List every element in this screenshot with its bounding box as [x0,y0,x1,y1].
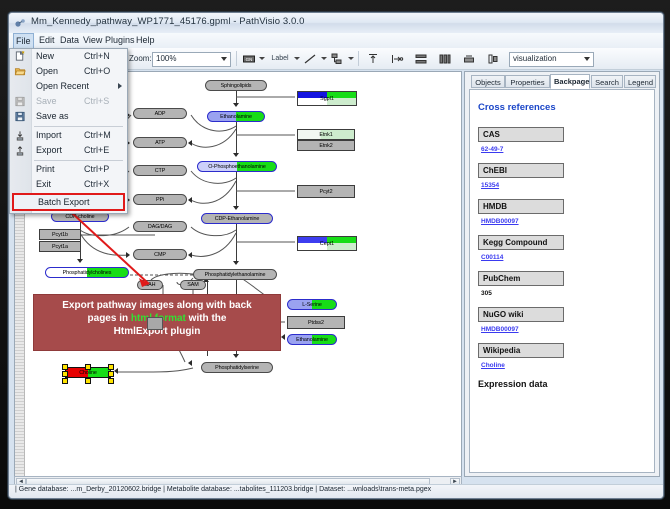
selection-handle[interactable] [108,364,114,370]
node-label: Sphingolipids [221,83,252,89]
xref-value-pubchem: 305 [481,290,650,297]
xref-value-cas[interactable]: 62-49-7 [481,146,650,153]
menu-item-accel: Ctrl+S [84,94,109,109]
node-ctp[interactable]: CTP [133,165,187,176]
gene-etnk1[interactable]: Etnk1 [297,129,355,140]
node-sam[interactable]: SAM [180,280,206,290]
node-label: DAG/DAG [148,224,172,230]
node-label: SAH [145,282,156,288]
menu-item-accel: Ctrl+P [84,162,109,177]
arrowhead-left-ps [188,360,192,366]
gene-pcyt1a[interactable]: Pcyt1a [39,241,81,252]
arrowhead-right-cmp [126,252,130,258]
arrowhead-left-cmp [188,252,192,258]
tab-backpage[interactable]: Backpage [550,74,590,89]
window-title: Mm_Kennedy_pathway_WP1771_45176.gpml - P… [31,16,305,27]
node-cmp[interactable]: CMP [133,249,187,260]
arrowhead-left-atp [188,140,192,146]
menu-item-save: Save Ctrl+S [10,94,127,109]
tab-properties[interactable]: Properties [505,75,550,88]
distribute-columns-icon[interactable] [438,52,452,66]
node-ethanolamine[interactable]: Ethanolamine [207,111,265,122]
xref-value-hmdb[interactable]: HMDB00097 [481,218,650,225]
menu-item-accel: Ctrl+X [84,177,109,192]
node-label: Choline [79,370,97,376]
datanode-dropdown-icon[interactable] [259,57,265,60]
node-phosphatidylserine[interactable]: Phosphatidylserine [201,362,273,373]
file-menu-dropdown[interactable]: New Ctrl+N Open Ctrl+O Open Recent Save … [9,48,128,214]
xref-db-chebi: ChEBI [478,163,564,178]
gene-label: Pcyt1a [52,244,68,250]
save-disk-icon [14,96,26,107]
node-label: SAM [187,282,198,288]
node-label: CDP-choline [65,214,94,220]
gene-label: Etnk2 [319,143,332,149]
node-label: Phosphatidylethanolamine [205,272,266,278]
status-text: | Gene database: ...m_Derby_20120602.bri… [15,486,431,493]
xref-value-nugo[interactable]: HMDB00097 [481,326,650,333]
menu-item-label: Batch Export [38,195,90,209]
toolbar-separator-2 [358,51,359,66]
folder-open-icon [14,66,26,77]
align-left-icon[interactable] [390,52,404,66]
cross-references-title: Cross references [478,102,650,113]
new-document-icon [14,51,26,62]
side-panel: Objects Properties Backpage Search Legen… [464,71,660,477]
visualization-combo[interactable]: visualization [509,52,594,67]
menu-item-open-recent[interactable]: Open Recent [10,79,127,94]
interaction-dropdown-icon[interactable] [348,57,354,60]
gene-label: Sgpl1 [298,96,356,102]
node-atp[interactable]: ATP [133,137,187,148]
xref-db-wikipedia: Wikipedia [478,343,564,358]
node-label: CTP [155,168,165,174]
menu-item-open[interactable]: Open Ctrl+O [10,64,127,79]
menu-item-save-as[interactable]: Save as [10,109,127,124]
backpage-content: Cross references CAS 62-49-7 ChEBI 15354… [469,89,655,473]
menu-file[interactable]: File [13,33,34,49]
menu-edit[interactable]: Edit [36,34,58,47]
node-l-serine[interactable]: L-Serine [287,299,337,310]
zoom-label: Zoom: [129,54,152,63]
menu-item-accel: Ctrl+N [84,49,110,64]
import-icon [14,130,26,141]
xref-db-hmdb: HMDB [478,199,564,214]
node-o-phosphoethanolamine[interactable]: O-Phosphoethanolamine [197,161,277,172]
node-cdp-ethanolamine[interactable]: CDP-Ethanolamine [201,213,273,224]
label-dropdown-icon[interactable] [294,57,300,60]
same-height-icon[interactable] [486,52,500,66]
title-bar: Mm_Kennedy_pathway_WP1771_45176.gpml - P… [9,13,663,34]
gene-cept1[interactable]: Cept1 [297,236,357,251]
submenu-arrow-icon [118,83,122,89]
arrowhead-left-choline-sel [114,368,118,374]
menu-data[interactable]: Data [57,34,82,47]
side-panel-tabs: Objects Properties Backpage Search Legen… [467,74,657,88]
arrowhead-left-etn2 [281,334,285,340]
selection-handle[interactable] [62,364,68,370]
tab-search[interactable]: Search [591,75,623,88]
label-tool-button[interactable]: Label [269,52,291,66]
node-phosphatidylethanolamine[interactable]: Phosphatidylethanolamine [193,269,277,280]
gene-ptdss2[interactable]: Ptdss2 [287,316,345,329]
line-dropdown-icon[interactable] [321,57,327,60]
tab-legend[interactable]: Legend [624,75,656,88]
toolbar-separator [236,51,237,66]
xref-db-cas: CAS [478,127,564,142]
node-label: Phosphatidylcholines [63,270,112,276]
node-label: Ethanolamine [220,114,252,120]
node-ppi[interactable]: PPi [133,194,187,205]
node-label: L-Serine [302,302,322,308]
arrowhead-left-ppi [188,197,192,203]
selection-handle[interactable] [62,378,68,384]
line-tool-button[interactable] [303,52,317,66]
gene-label: Pcyt1b [52,232,68,238]
xref-db-nugo: NuGO wiki [478,307,564,322]
expression-data-title: Expression data [478,379,650,389]
align-top-icon[interactable] [366,52,380,66]
selection-handle[interactable] [85,378,91,384]
application-window: Mm_Kennedy_pathway_WP1771_45176.gpml - P… [8,12,664,499]
chevron-down-icon-2 [584,57,590,61]
gene-label: Ptdss2 [308,320,324,326]
node-label: O-Phosphoethanolamine [208,164,266,170]
menu-item-accel: Ctrl+M [84,128,111,143]
menu-item-label: Open [36,64,58,79]
node-label: Phosphatidylserine [215,365,259,371]
export-icon [14,145,26,156]
datanode-tool-button[interactable]: GN [242,52,256,66]
callout-line-2-pre: pages in [88,313,131,324]
gene-pcyt1b[interactable]: Pcyt1b [39,229,81,240]
selection-handle[interactable] [108,371,114,377]
xref-db-pubchem: PubChem [478,271,564,286]
menu-bar: File Edit Data View Plugins Help [9,33,663,49]
svg-text:GN: GN [246,57,253,62]
node-adp[interactable]: ADP [133,108,187,119]
node-sphingolipids[interactable]: Sphingolipids [205,80,267,91]
interaction-tool-button[interactable] [330,52,344,66]
menu-item-new[interactable]: New Ctrl+N [10,49,127,64]
gene-label: Etnk1 [319,132,332,138]
callout-line-2-post: with the [186,313,227,324]
xref-value-kegg[interactable]: C00114 [481,254,650,261]
menu-item-label: Save as [36,109,69,124]
same-width-icon[interactable] [462,52,476,66]
menu-help[interactable]: Help [133,34,158,47]
callout-anchor-box [147,317,163,330]
menu-item-label: Export [36,143,62,158]
selection-handle[interactable] [108,378,114,384]
gene-label: Pcyt2 [320,189,333,195]
xref-value-wikipedia[interactable]: Choline [481,362,650,369]
selection-handle[interactable] [62,371,68,377]
stack-vertical-icon[interactable] [414,52,428,66]
xref-db-kegg: Kegg Compound [478,235,564,250]
status-bar: | Gene database: ...m_Derby_20120602.bri… [9,484,663,498]
pathvisio-icon [14,17,26,29]
node-label: Ethanolamine [296,337,328,343]
menu-item-accel: Ctrl+E [84,143,109,158]
xref-value-chebi[interactable]: 15354 [481,182,650,189]
menu-item-print[interactable]: Print Ctrl+P [10,162,127,177]
node-label: CDP-Ethanolamine [215,216,260,222]
menu-item-label: Save [36,94,57,109]
node-label: ADP [155,111,166,117]
menu-item-export[interactable]: Export Ctrl+E [10,143,127,158]
menu-item-label: New [36,49,54,64]
tab-objects[interactable]: Objects [471,75,505,88]
menu-item-batch-export[interactable]: Batch Export [12,193,125,211]
desktop-background: Mm_Kennedy_pathway_WP1771_45176.gpml - P… [0,0,670,509]
gene-etnk2[interactable]: Etnk2 [297,140,355,151]
save-as-icon [14,111,26,122]
gene-pcyt2[interactable]: Pcyt2 [297,185,355,198]
node-sah[interactable]: SAH [137,280,163,290]
visualization-value: visualization [513,54,557,63]
menu-item-label: Exit [36,177,51,192]
gene-sgpl1[interactable]: Sgpl1 [297,91,357,106]
menu-item-label: Print [36,162,55,177]
chevron-down-icon [221,57,227,61]
selection-handle[interactable] [85,364,91,370]
menu-item-label: Open Recent [36,79,89,94]
node-label: CMP [154,252,166,258]
menu-item-accel: Ctrl+O [84,64,110,79]
menu-item-label: Import [36,128,62,143]
menu-item-exit[interactable]: Exit Ctrl+X [10,177,127,192]
node-label: PPi [156,197,164,203]
node-dag[interactable]: DAG/DAG [133,221,187,232]
zoom-combo[interactable]: 100% [152,52,231,67]
menu-item-import[interactable]: Import Ctrl+M [10,128,127,143]
node-ethanolamine-2[interactable]: Ethanolamine [287,334,337,345]
gene-label: Cept1 [298,241,356,247]
zoom-value: 100% [156,54,176,63]
callout-line-1: Export pathway images along with back [40,299,274,312]
node-phosphatidylcholines[interactable]: Phosphatidylcholines [45,267,129,278]
node-label: ATP [155,140,165,146]
